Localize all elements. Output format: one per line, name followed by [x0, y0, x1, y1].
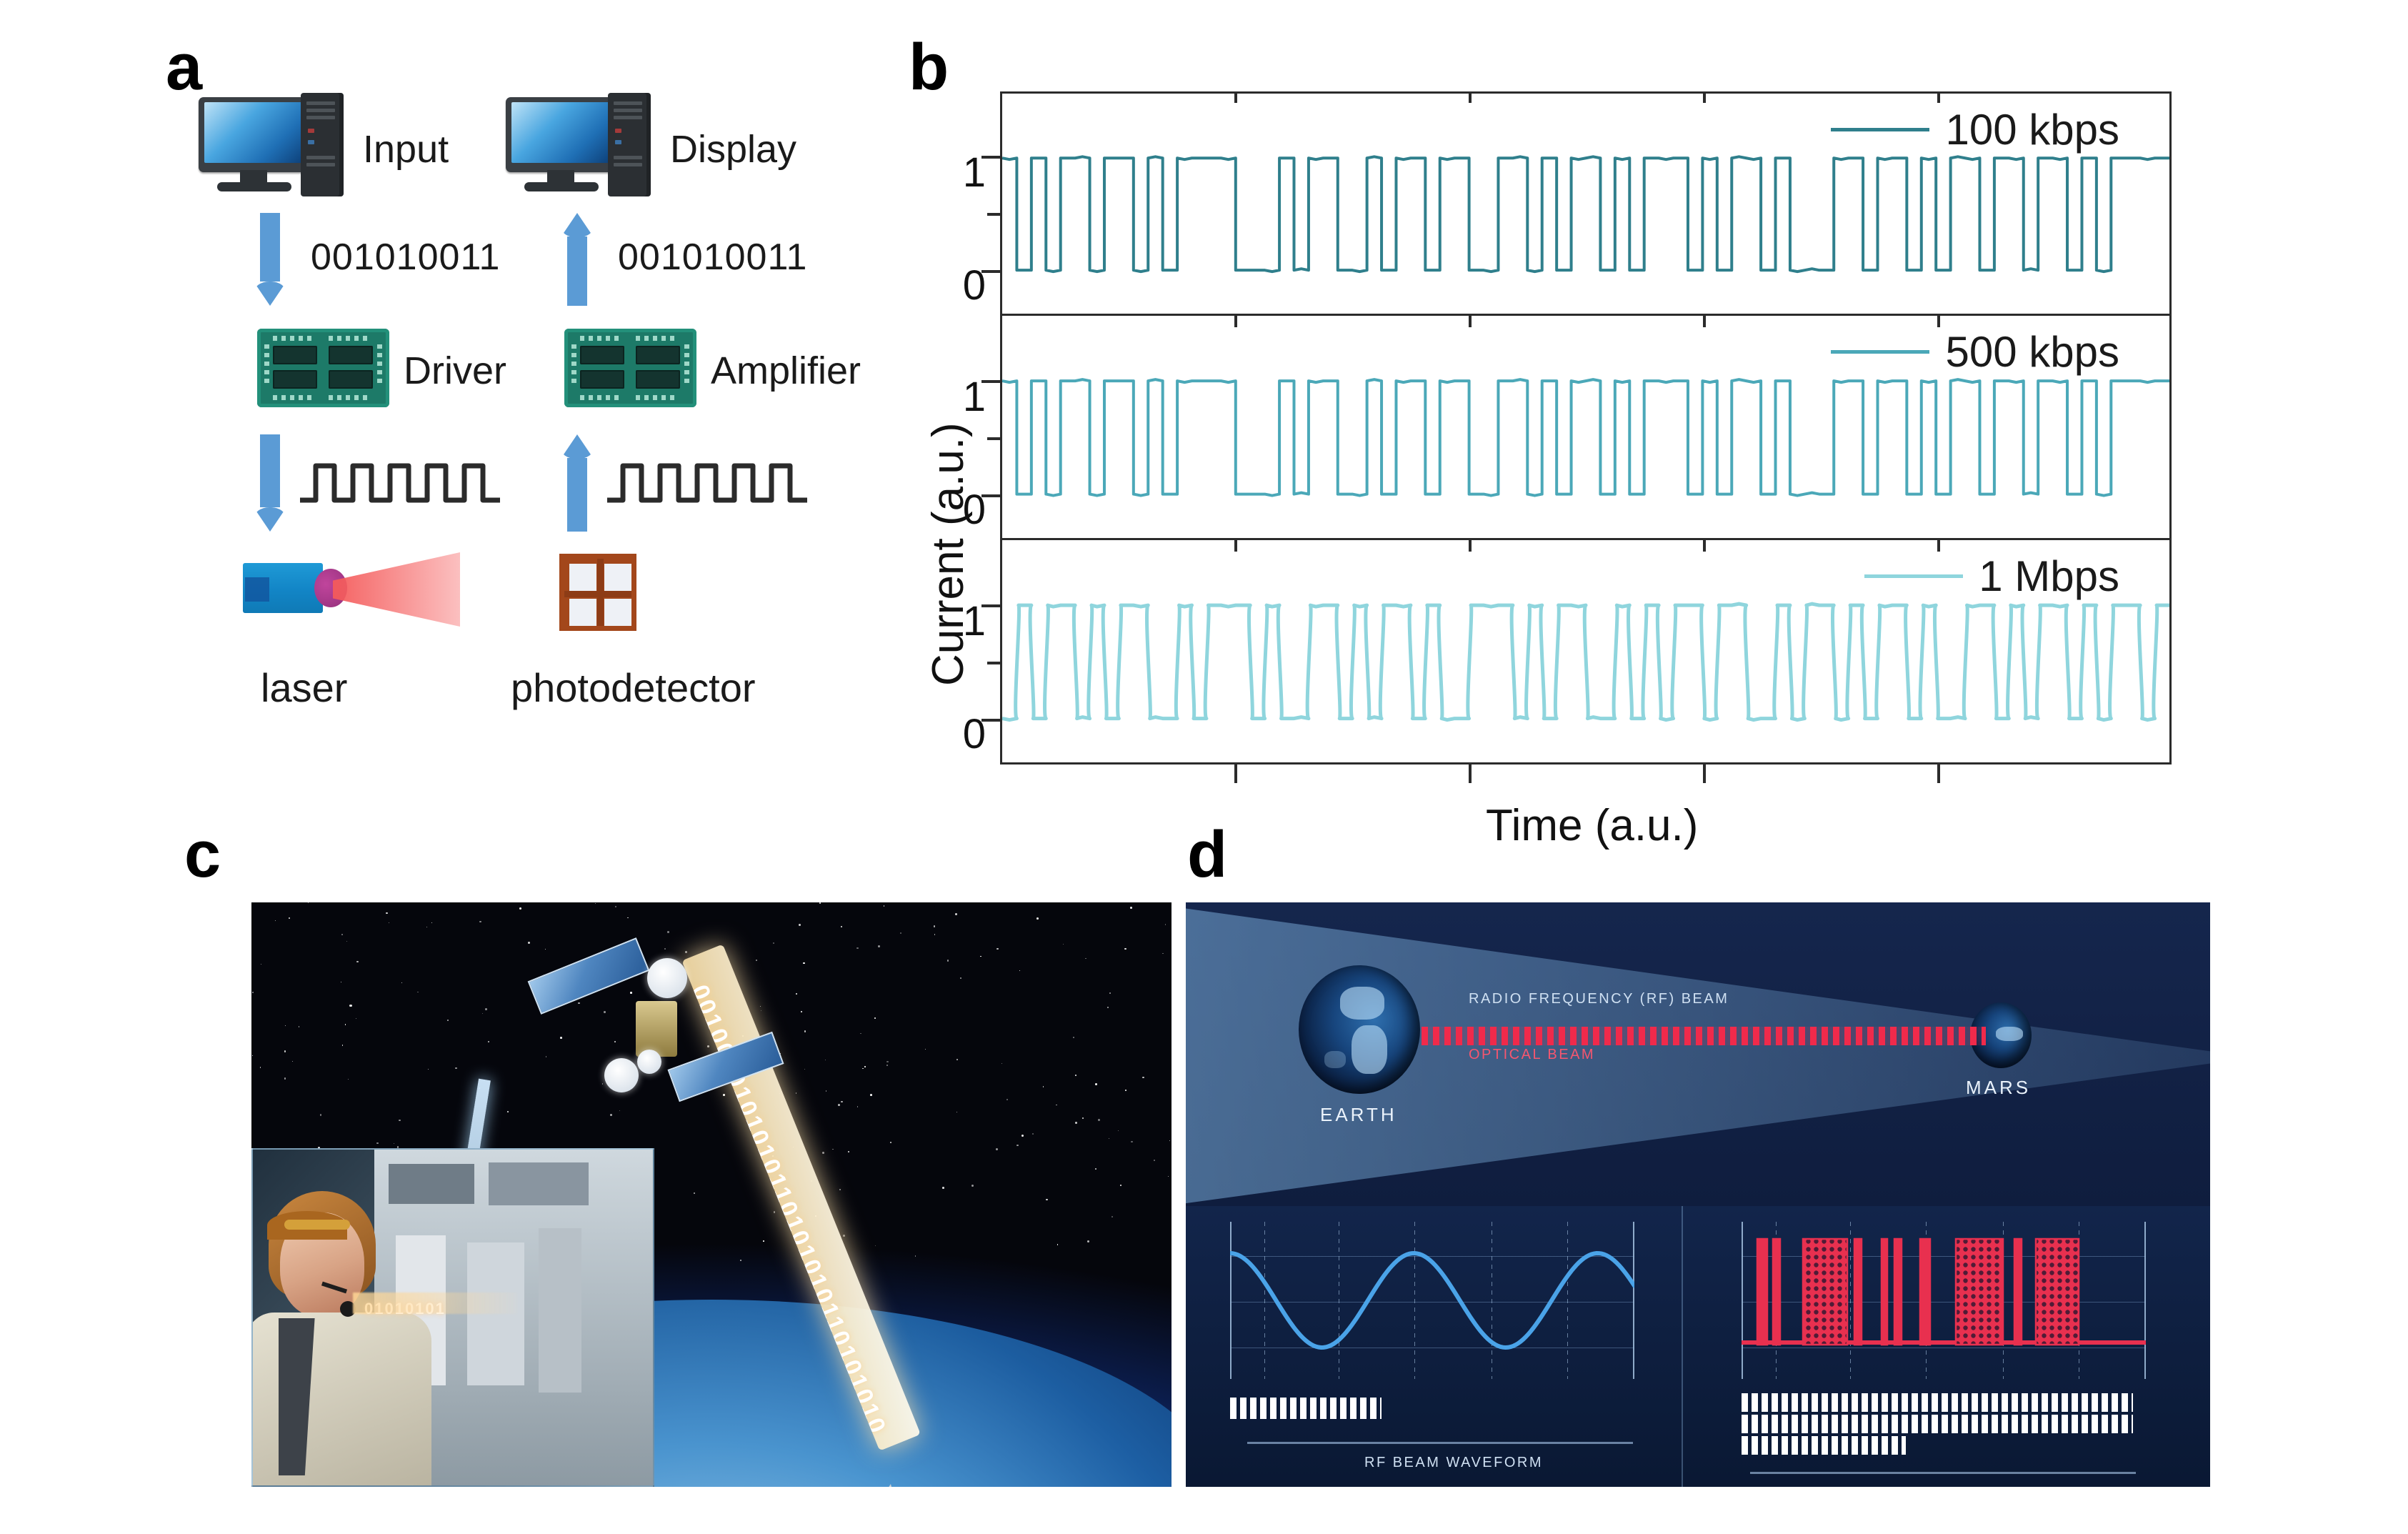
panel-d-earth-mars-diagram: EARTH MARS RADIO FREQUENCY (RF) BEAM OPT… [1186, 902, 2210, 1487]
satellite [530, 945, 780, 1131]
star [275, 920, 276, 921]
display-label: Display [670, 127, 796, 171]
star [996, 1148, 998, 1150]
star [1006, 1099, 1008, 1100]
star [773, 942, 774, 944]
legend-label: 100 kbps [1945, 105, 2119, 154]
star [971, 1185, 974, 1187]
star [864, 1066, 866, 1067]
computer-icon [199, 93, 341, 200]
star [801, 1011, 802, 1012]
bitstream-tx-label: 001010011 [311, 236, 500, 279]
star [1109, 1138, 1109, 1139]
photodetector-label: photodetector [511, 664, 755, 711]
star [1142, 1077, 1144, 1079]
star [843, 1235, 845, 1237]
star [875, 1245, 876, 1247]
tick-mark [981, 604, 1000, 607]
star [878, 945, 880, 947]
up-arrow-icon [561, 434, 594, 532]
star [874, 1017, 876, 1019]
star [348, 1079, 349, 1080]
star [1075, 1122, 1077, 1124]
star [832, 1149, 833, 1150]
star [1165, 924, 1166, 925]
star [1085, 958, 1086, 960]
star [1098, 1119, 1100, 1121]
star [1001, 1063, 1002, 1064]
tick-mark [981, 380, 1000, 383]
star [417, 992, 419, 993]
star [799, 924, 801, 926]
optical-beam [1422, 1027, 1986, 1045]
computer-icon [506, 93, 649, 200]
star [308, 902, 309, 903]
tick-mark [987, 662, 1000, 664]
star [960, 977, 961, 979]
star [1032, 1133, 1034, 1135]
dish-antenna [637, 1050, 661, 1074]
rf-sine-wave [1230, 1222, 1634, 1379]
star [428, 1069, 429, 1070]
star [819, 902, 820, 903]
laser-label: laser [261, 664, 347, 711]
star [1021, 1135, 1024, 1137]
up-arrow-icon [561, 213, 594, 306]
mars-label: MARS [1966, 1077, 2031, 1099]
square-wave-icon [607, 456, 807, 513]
star [841, 1101, 843, 1103]
star [507, 1111, 509, 1112]
star [1056, 1105, 1056, 1105]
star [615, 906, 616, 907]
solar-panel-right [667, 1032, 784, 1102]
operator-torso [251, 1313, 431, 1487]
legend-100kbps: 100 kbps [1831, 105, 2119, 154]
star [252, 992, 254, 993]
star [1046, 1199, 1048, 1201]
tick-mark [1469, 539, 1472, 552]
y-tick-label: 0 [936, 486, 986, 534]
star [485, 1008, 487, 1010]
star [346, 941, 347, 942]
star [796, 1092, 797, 1094]
satellite-body [636, 1001, 677, 1057]
star [848, 1151, 849, 1152]
rf-waveform-caption: RF BEAM WAVEFORM [1364, 1455, 1543, 1471]
panel-c-satellite-illustration: 0010010101010110101010110101010 [251, 902, 1171, 1487]
star [1169, 1140, 1170, 1141]
star [299, 1026, 299, 1027]
star [838, 1104, 840, 1106]
star [386, 912, 388, 915]
star [1019, 970, 1020, 971]
star [955, 913, 957, 915]
star [342, 1045, 344, 1046]
legend-swatch [1831, 350, 1929, 354]
star [860, 1033, 861, 1035]
down-arrow-icon [254, 213, 286, 306]
panel-label-c: c [184, 822, 221, 887]
rf-data-bar [1230, 1398, 1382, 1419]
star [479, 921, 481, 923]
panel-label-a: a [166, 34, 202, 100]
y-tick-label: 1 [936, 597, 986, 645]
tick-mark [1703, 314, 1706, 327]
legend-swatch [1831, 128, 1929, 131]
down-arrow-icon [254, 434, 286, 532]
star [1073, 1037, 1074, 1038]
star [956, 1112, 957, 1112]
tick-mark [981, 494, 1000, 497]
chip-icon [257, 329, 389, 407]
star [822, 1152, 824, 1154]
solar-panel-left [528, 937, 650, 1015]
star [455, 1067, 457, 1070]
star [694, 1192, 695, 1194]
star [934, 934, 935, 935]
tick-mark [1937, 764, 1940, 783]
star [915, 1255, 916, 1256]
panel-a-block-diagram: Input 001010011 Driver laser [164, 93, 879, 850]
star [389, 922, 389, 923]
star [320, 1114, 321, 1115]
tick-mark [987, 437, 1000, 440]
star [1154, 1160, 1155, 1161]
star [447, 1020, 449, 1021]
star [1162, 953, 1163, 954]
x-axis-label: Time (a.u.) [1486, 800, 1698, 851]
star [260, 1067, 261, 1067]
amplifier-label: Amplifier [711, 349, 861, 393]
star [1087, 1240, 1089, 1242]
tick-mark [1937, 91, 1940, 103]
dish-antenna [647, 958, 687, 998]
tick-mark [1703, 91, 1706, 103]
star [856, 947, 859, 950]
airplane [751, 1474, 1151, 1487]
star [1120, 1185, 1121, 1186]
input-label: Input [363, 127, 449, 171]
star [826, 1090, 827, 1092]
tick-mark [1234, 764, 1237, 783]
star [1075, 1075, 1076, 1076]
star [996, 948, 998, 950]
legend-500kbps: 500 kbps [1831, 327, 2119, 377]
driver-label: Driver [404, 349, 506, 393]
tick-mark [981, 719, 1000, 722]
star [426, 927, 427, 927]
rf-caption-rule [1247, 1442, 1633, 1444]
star [857, 1106, 858, 1107]
rf-beam-label: RADIO FREQUENCY (RF) BEAM [1469, 991, 1729, 1007]
star [345, 1024, 346, 1025]
star [1130, 907, 1132, 909]
star [1016, 1145, 1018, 1146]
star [289, 917, 290, 919]
panel-b-waveform-chart: 100 kbps 500 kbps 1 Mbps [1000, 91, 2172, 764]
star [349, 1005, 351, 1007]
star [900, 932, 901, 934]
star [284, 1077, 286, 1079]
optical-waveform-caption: OPTICAL BEAM WAVEFORM [1857, 1485, 2087, 1487]
subplot-1mbps: 1 Mbps [1000, 540, 2172, 764]
star [1118, 1130, 1119, 1131]
star [886, 1065, 888, 1066]
tick-mark [1937, 539, 1940, 552]
rf-waveform-box [1230, 1222, 1634, 1379]
star [1063, 944, 1064, 945]
star [1109, 992, 1111, 994]
star [862, 1068, 863, 1069]
star [376, 1142, 379, 1145]
star [285, 1025, 286, 1026]
legend-label: 500 kbps [1945, 327, 2119, 377]
dish-antenna [604, 1058, 639, 1092]
subplot-500kbps: 500 kbps [1000, 316, 2172, 540]
star [1082, 1117, 1084, 1119]
square-wave-icon [300, 456, 500, 513]
panel-label-b: b [909, 34, 949, 100]
star [431, 922, 432, 923]
optical-beam-label: OPTICAL BEAM [1469, 1047, 1595, 1063]
star [528, 942, 530, 944]
earth-label: EARTH [1320, 1104, 1397, 1126]
optical-data-bar [1742, 1393, 2133, 1412]
star [980, 956, 981, 957]
tick-mark [1234, 91, 1237, 103]
star [925, 1049, 926, 1050]
tick-mark [1703, 764, 1706, 783]
star [825, 1060, 826, 1060]
star [1125, 1090, 1126, 1090]
star [804, 1030, 806, 1032]
tick-mark [1234, 314, 1237, 327]
operator-inset: 01010101 [251, 1148, 654, 1487]
y-tick-label: 1 [936, 373, 986, 421]
tick-mark [1469, 91, 1472, 103]
earth-planet [1299, 965, 1420, 1094]
star [519, 907, 521, 910]
legend-1mbps: 1 Mbps [1864, 552, 2119, 601]
tick-mark [1703, 539, 1706, 552]
optical-data-bar [1742, 1415, 2133, 1433]
star [1131, 1141, 1132, 1142]
star [261, 964, 262, 965]
star [1107, 1007, 1108, 1007]
star [740, 1260, 741, 1261]
star [841, 926, 842, 927]
star [356, 1018, 356, 1019]
panel-divider [1682, 1206, 1683, 1487]
legend-label: 1 Mbps [1979, 552, 2119, 601]
star [804, 1069, 805, 1070]
tick-mark [981, 270, 1000, 273]
star [482, 1013, 483, 1014]
deep-space-link-diagram: EARTH MARS RADIO FREQUENCY (RF) BEAM OPT… [1186, 902, 2210, 1206]
star [1095, 1168, 1096, 1170]
y-tick-label: 1 [936, 149, 986, 196]
star [839, 1189, 841, 1191]
tick-mark [987, 213, 1000, 216]
subplot-100kbps: 100 kbps [1000, 91, 2172, 316]
star [763, 1240, 764, 1242]
legend-swatch [1864, 574, 1963, 578]
star [1036, 917, 1039, 920]
star [942, 1187, 944, 1189]
star [1124, 948, 1126, 950]
tick-mark [1937, 314, 1940, 327]
waveform-comparison-row: RF BEAM WAVEFORM OPTICAL BEAM WAVEFORM [1186, 1206, 2210, 1487]
tick-mark [1469, 314, 1472, 327]
star [401, 982, 402, 983]
star [284, 1050, 286, 1052]
y-axis-label: Current (a.u.) [923, 422, 974, 686]
star [1043, 1086, 1044, 1087]
tick-mark [981, 156, 1000, 159]
bitstream-rx-label: 001010011 [618, 236, 807, 279]
optical-waveform-box [1742, 1222, 2146, 1379]
star [252, 1055, 253, 1056]
y-tick-label: 0 [936, 710, 986, 758]
optical-caption-rule [1750, 1472, 2136, 1474]
star [1168, 1176, 1169, 1177]
photodetector-icon [559, 554, 636, 631]
star [1057, 1244, 1058, 1245]
star [667, 931, 669, 933]
star [884, 905, 884, 906]
star [399, 1120, 400, 1121]
laser-icon [243, 550, 457, 629]
star [341, 934, 343, 935]
star [292, 1061, 293, 1062]
star [774, 1211, 776, 1213]
y-tick-label: 0 [936, 262, 986, 309]
star [890, 1142, 891, 1143]
star [488, 1041, 489, 1042]
star [341, 982, 341, 982]
star [870, 1094, 872, 1096]
star [796, 993, 797, 995]
chip-icon [564, 329, 696, 407]
star [1095, 1083, 1097, 1085]
star [627, 917, 628, 918]
tick-mark [1234, 539, 1237, 552]
star [394, 1143, 395, 1145]
optical-data-bar [1742, 1436, 1906, 1455]
star [886, 1061, 888, 1062]
star [595, 903, 596, 904]
star [356, 961, 359, 963]
star [1111, 1216, 1113, 1217]
panel-label-d: d [1187, 822, 1227, 887]
tick-mark [1469, 764, 1472, 783]
star [934, 925, 935, 927]
optical-pulse-train [1742, 1222, 2146, 1379]
star [803, 962, 804, 964]
star [947, 960, 949, 962]
star [956, 1059, 958, 1060]
